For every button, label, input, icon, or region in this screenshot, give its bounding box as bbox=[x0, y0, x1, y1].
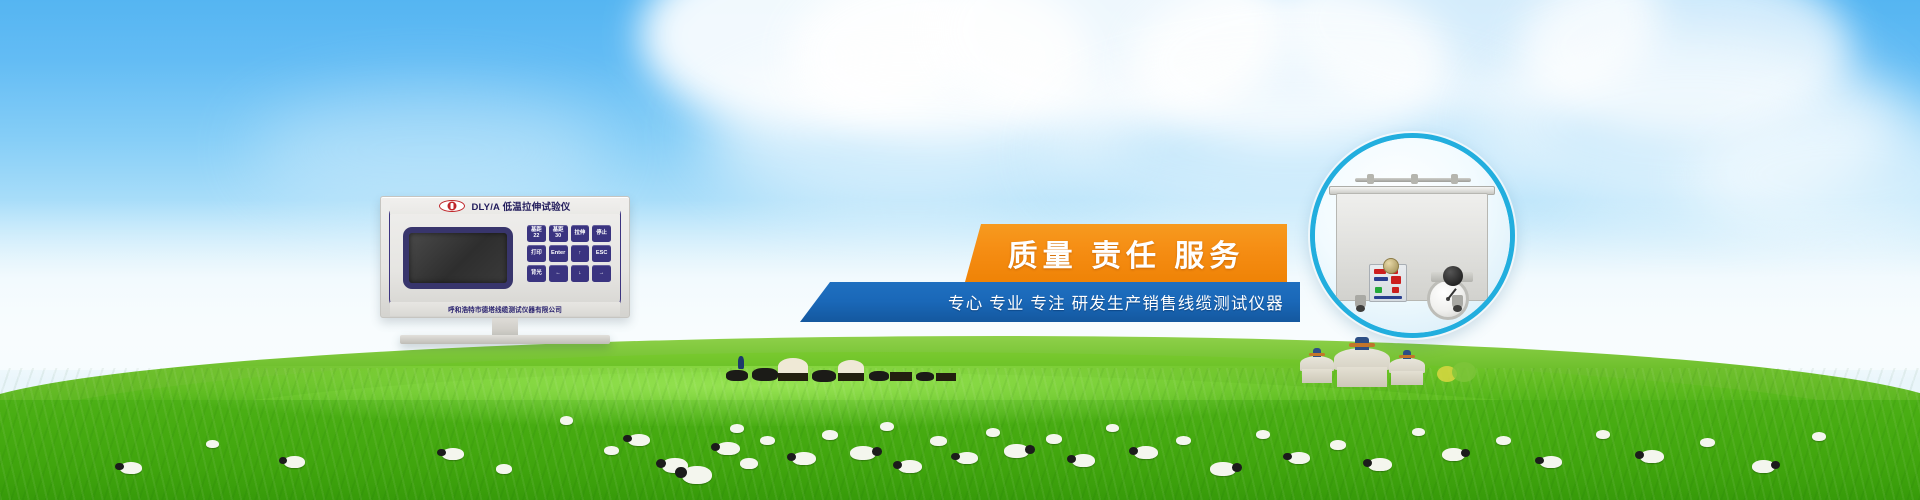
sheep-icon bbox=[1412, 428, 1425, 436]
led-display bbox=[1391, 276, 1401, 284]
caster-wheel-icon bbox=[1355, 295, 1366, 309]
sheep-icon bbox=[1256, 430, 1270, 439]
sheep-icon bbox=[898, 460, 922, 473]
cart-body bbox=[838, 373, 864, 381]
indicator-lamp bbox=[1375, 287, 1382, 293]
grass-texture bbox=[0, 368, 1920, 500]
key-button-arrow-down[interactable]: ↓ bbox=[571, 265, 590, 282]
instrument-model-title: DLY/A 低温拉伸试验仪 bbox=[471, 199, 570, 213]
sheep-icon bbox=[1700, 438, 1715, 447]
key-button-arrow-right[interactable]: → bbox=[592, 265, 611, 282]
sheep-icon bbox=[442, 448, 464, 460]
sheep-icon bbox=[1210, 462, 1236, 476]
company-logo-icon bbox=[439, 200, 465, 212]
sheep-icon bbox=[986, 428, 1000, 437]
sheep-icon bbox=[1640, 450, 1664, 463]
key-button[interactable]: 停止 bbox=[592, 225, 611, 242]
key-button[interactable]: 基距22 bbox=[527, 225, 546, 242]
sheep-icon bbox=[1596, 430, 1610, 439]
arrow-left-icon: ← bbox=[555, 271, 560, 277]
sheep-icon bbox=[628, 434, 650, 446]
sheep-icon bbox=[1004, 444, 1029, 458]
panel-label-strip bbox=[1374, 296, 1402, 299]
instrument-header: DLY/A 低温拉伸试验仪 bbox=[390, 198, 620, 214]
key-button[interactable]: Enter bbox=[549, 245, 568, 262]
sheep-icon bbox=[1072, 454, 1095, 467]
sheep-icon bbox=[682, 466, 712, 484]
sheep-icon bbox=[604, 446, 619, 455]
sheep-icon bbox=[1176, 436, 1191, 445]
sheep-icon bbox=[822, 430, 838, 440]
yurt-icon bbox=[1389, 358, 1425, 384]
sheep-icon bbox=[1496, 436, 1511, 445]
key-line2: 22 bbox=[533, 234, 539, 240]
arrow-down-icon: ↓ bbox=[579, 271, 582, 277]
ox-icon bbox=[916, 372, 934, 381]
ox-icon bbox=[752, 368, 778, 381]
herder-figure bbox=[738, 356, 744, 369]
company-name-label: 呼和浩特市德塔线缆测试仪器有限公司 bbox=[448, 304, 562, 314]
sheep-icon bbox=[740, 458, 758, 469]
yurt-icon bbox=[1334, 348, 1390, 386]
cart-body bbox=[936, 373, 956, 381]
primary-slogan-text: 质量 责任 服务 bbox=[1008, 231, 1245, 275]
ox-icon bbox=[812, 370, 836, 382]
secondary-slogan-text: 专心 专业 专注 研发生产销售线缆测试仪器 bbox=[948, 290, 1284, 314]
key-button[interactable]: 打印 bbox=[527, 245, 546, 262]
banner-root: DLY/A 低温拉伸试验仪 呼和浩特市德塔线缆测试仪器有限公司 基距22 基距3… bbox=[0, 0, 1920, 500]
key-line1: 停止 bbox=[596, 231, 607, 237]
sheep-icon bbox=[1540, 456, 1562, 468]
key-line1: 拉伸 bbox=[574, 231, 585, 237]
indicator-lamp bbox=[1392, 287, 1399, 293]
bush-icon bbox=[1452, 362, 1476, 382]
key-line1: 打印 bbox=[531, 251, 542, 257]
sheep-icon bbox=[1330, 440, 1346, 450]
sheep-icon bbox=[1442, 448, 1465, 461]
cart-body bbox=[890, 372, 912, 381]
key-line2: 30 bbox=[555, 234, 561, 240]
key-button[interactable]: 拉伸 bbox=[571, 225, 590, 242]
sheep-icon bbox=[560, 416, 573, 425]
instrument-base bbox=[400, 335, 610, 344]
key-button[interactable]: ESC bbox=[592, 245, 611, 262]
ox-icon bbox=[869, 371, 889, 381]
sheep-icon bbox=[730, 424, 744, 433]
sheep-icon bbox=[760, 436, 775, 445]
sheep-icon bbox=[880, 422, 894, 431]
instrument-footer: 呼和浩特市德塔线缆测试仪器有限公司 bbox=[390, 302, 620, 316]
arrow-right-icon: → bbox=[599, 271, 604, 277]
sheep-icon bbox=[120, 462, 142, 474]
sheep-icon bbox=[956, 452, 978, 464]
caster-wheel-icon bbox=[1452, 295, 1463, 309]
key-button[interactable]: 基距30 bbox=[549, 225, 568, 242]
key-button[interactable]: 背光 bbox=[527, 265, 546, 282]
sheep-icon bbox=[1812, 432, 1826, 441]
sheep-icon bbox=[1106, 424, 1119, 432]
tensile-tester-unit: DLY/A 低温拉伸试验仪 呼和浩特市德塔线缆测试仪器有限公司 基距22 基距3… bbox=[380, 196, 630, 318]
arrow-up-icon: ↑ bbox=[579, 251, 582, 257]
product-circle-ring bbox=[1310, 133, 1515, 338]
sheep-icon bbox=[1368, 458, 1392, 471]
lcd-display bbox=[403, 227, 513, 289]
sheep-icon bbox=[206, 440, 219, 448]
key-line1: 背光 bbox=[531, 271, 542, 277]
lid-nut-icon bbox=[1411, 174, 1418, 184]
valve-knob-icon[interactable] bbox=[1443, 266, 1463, 286]
key-line1: Enter bbox=[551, 251, 565, 257]
sheep-icon bbox=[792, 452, 816, 465]
sheep-icon bbox=[1134, 446, 1158, 459]
key-button-arrow-up[interactable]: ↑ bbox=[571, 245, 590, 262]
sheep-icon bbox=[1752, 460, 1775, 473]
sheep-icon bbox=[1288, 452, 1310, 464]
sheep-icon bbox=[284, 456, 305, 468]
lid-nut-icon bbox=[1367, 174, 1374, 184]
ox-icon bbox=[726, 370, 748, 381]
drain-valve-icon[interactable] bbox=[1383, 258, 1399, 274]
sheep-icon bbox=[850, 446, 876, 460]
lid-nut-icon bbox=[1451, 174, 1458, 184]
sheep-icon bbox=[930, 436, 947, 446]
secondary-slogan-bar: 专心 专业 专注 研发生产销售线缆测试仪器 bbox=[800, 282, 1300, 322]
key-line1: ESC bbox=[596, 251, 608, 257]
lcd-glass bbox=[409, 233, 507, 283]
cart-body bbox=[778, 373, 808, 381]
chamber-body bbox=[1336, 193, 1488, 301]
sheep-icon bbox=[1046, 434, 1062, 444]
led-display bbox=[1374, 277, 1388, 281]
product-circle bbox=[1310, 133, 1515, 338]
gauge-center bbox=[1446, 297, 1450, 301]
sheep-icon bbox=[496, 464, 512, 474]
primary-slogan-bar: 质量 责任 服务 bbox=[965, 224, 1287, 282]
instrument-stand bbox=[492, 318, 518, 336]
key-button-arrow-left[interactable]: ← bbox=[549, 265, 568, 282]
yurt-icon bbox=[1300, 356, 1334, 382]
keypad[interactable]: 基距22 基距30 拉伸 停止 打印 Enter ↑ ESC 背光 ← ↓ → bbox=[527, 225, 611, 282]
sheep-icon bbox=[716, 442, 740, 455]
cloud-icon bbox=[250, 90, 610, 210]
